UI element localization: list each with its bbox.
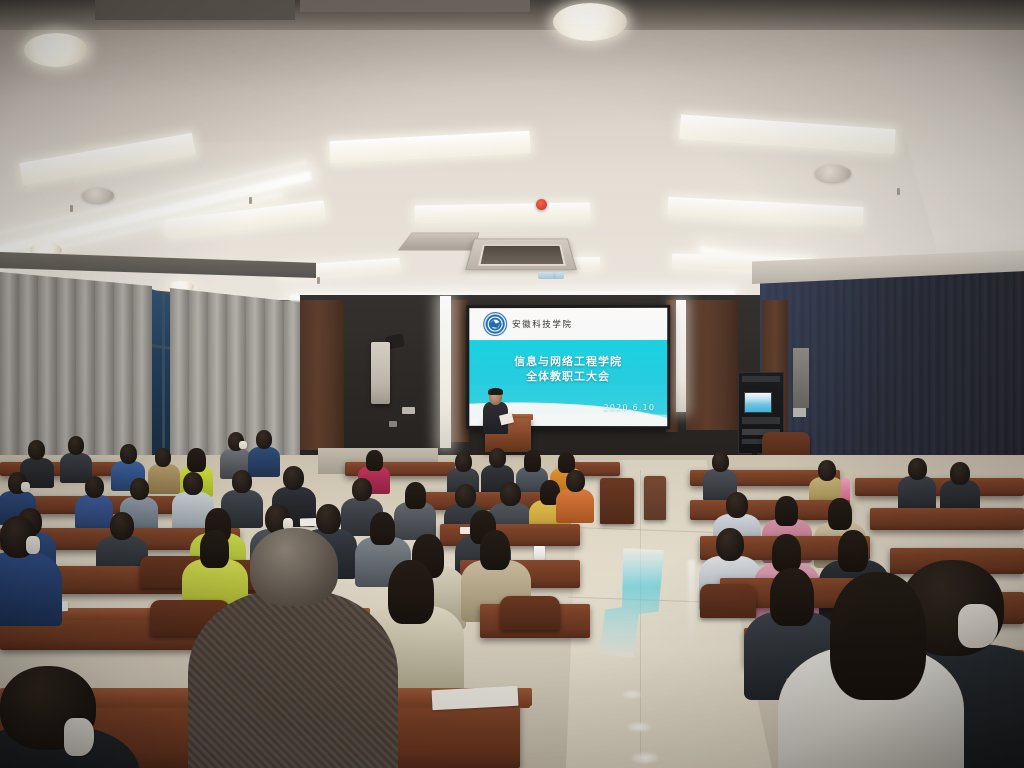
face-mask [64, 718, 94, 756]
wall-switch-plate[interactable] [402, 407, 415, 414]
desk [870, 508, 1024, 530]
face-mask [239, 441, 247, 449]
attendee-hair [770, 568, 814, 626]
attendee-head [183, 472, 203, 495]
slide-header: 安徽科技学院 [469, 308, 667, 340]
face-mask [26, 536, 40, 554]
attendee-hair [772, 534, 801, 572]
attendee-head [110, 512, 134, 540]
ceiling-panel-light [415, 202, 590, 222]
attendee-head head-light [155, 448, 171, 467]
vertical-light-column [440, 296, 451, 448]
attendee-body [0, 552, 62, 626]
attendee-hair [524, 450, 541, 472]
desk [690, 500, 850, 520]
attendee-body [148, 464, 180, 494]
attendee-head [28, 440, 45, 460]
attendee-head [566, 470, 585, 492]
attendee-head [455, 484, 476, 508]
attendee-head [908, 458, 927, 480]
wall-speaker [371, 342, 390, 404]
ceiling-sensor [249, 197, 252, 204]
face-mask [958, 604, 998, 648]
conference-room-photo: 安徽科技学院 信息与网络工程学院 全体教职工大会 2020.6.10 [0, 0, 1024, 768]
vertical-light-column [676, 300, 686, 412]
attendee-hair [388, 560, 434, 624]
attendee-head [712, 452, 729, 472]
chair[interactable] [600, 478, 634, 524]
attendee-hair [838, 530, 868, 572]
window-mullion [162, 288, 165, 464]
attendee-head [716, 528, 744, 561]
attendee-hair [187, 448, 206, 472]
ac-grille [478, 245, 566, 266]
attendee-hair [405, 482, 426, 509]
chair[interactable] [500, 596, 560, 630]
attendee-head [316, 504, 341, 534]
door-sign [793, 408, 806, 417]
attendee-head [352, 478, 372, 501]
attendee-head [726, 492, 748, 518]
attendee-hair [828, 498, 852, 530]
rear-door-frame[interactable] [793, 348, 809, 408]
attendee-head [500, 482, 521, 506]
attendee-hair [200, 530, 229, 568]
attendee-head [455, 452, 472, 472]
wall-wood-panel [686, 300, 738, 430]
ceiling-soffit-notch [95, 0, 295, 20]
ceiling-indicator-strip [538, 272, 564, 279]
university-emblem-icon [483, 312, 507, 336]
attendee-body [556, 489, 594, 523]
ceiling-speaker [82, 188, 114, 203]
attendee-head [818, 460, 836, 481]
attendee-head [950, 462, 970, 485]
attendee-hair [830, 572, 926, 700]
chair[interactable] [700, 584, 756, 618]
attendee-head [256, 430, 272, 449]
ceiling-ac-duct [397, 233, 479, 251]
attendee-head [130, 478, 149, 500]
chair[interactable] [644, 476, 666, 520]
ceiling-ac-vent [465, 239, 577, 270]
floor-reflection-light [631, 752, 659, 764]
slide-title: 信息与网络工程学院 全体教职工大会 [469, 354, 667, 384]
attendee-body [188, 590, 398, 768]
face-mask [21, 482, 30, 492]
rack-shelf [742, 417, 780, 424]
ceiling-sensor [317, 277, 320, 284]
slide-title-line-1: 信息与网络工程学院 [469, 354, 667, 369]
fire-sprinkler-icon [536, 199, 547, 210]
rack-shelf [742, 376, 780, 382]
attendee-hair [366, 450, 383, 471]
ceiling-soffit-notch [300, 0, 530, 12]
floor-reflection-light [627, 722, 651, 732]
attendee-head [489, 448, 506, 468]
attendee-body [248, 447, 280, 477]
attendee-body [75, 495, 113, 529]
ceiling-sensor [70, 205, 73, 212]
floor-tile-seam [640, 470, 641, 760]
attendee-hair [480, 530, 510, 570]
presenter-hair [488, 388, 503, 395]
attendee-head [283, 466, 304, 490]
rack-monitor-screen [744, 392, 772, 413]
paper-cup [534, 546, 545, 561]
attendee-hair [370, 512, 395, 545]
wall-outlet-plate[interactable] [389, 421, 397, 427]
floor-reflection-light [622, 690, 642, 699]
attendee-body [898, 476, 936, 510]
ceiling-speaker [815, 165, 851, 182]
attendee-head [68, 436, 84, 455]
ceiling-downlight [24, 33, 88, 67]
ceiling-downlight [553, 3, 627, 41]
ceiling-sensor [897, 188, 900, 195]
attendee-head [250, 528, 338, 606]
attendee-head [120, 444, 137, 464]
slide-organization-name: 安徽科技学院 [512, 318, 572, 330]
floor-reflection-strip [688, 560, 695, 650]
attendee-head [232, 470, 252, 493]
attendee-hair [775, 496, 798, 526]
wall-wood-panel [300, 300, 344, 450]
attendee-head [85, 476, 104, 498]
slide-date: 2020.6.10 [604, 403, 656, 412]
slide-title-line-2: 全体教职工大会 [469, 369, 667, 384]
